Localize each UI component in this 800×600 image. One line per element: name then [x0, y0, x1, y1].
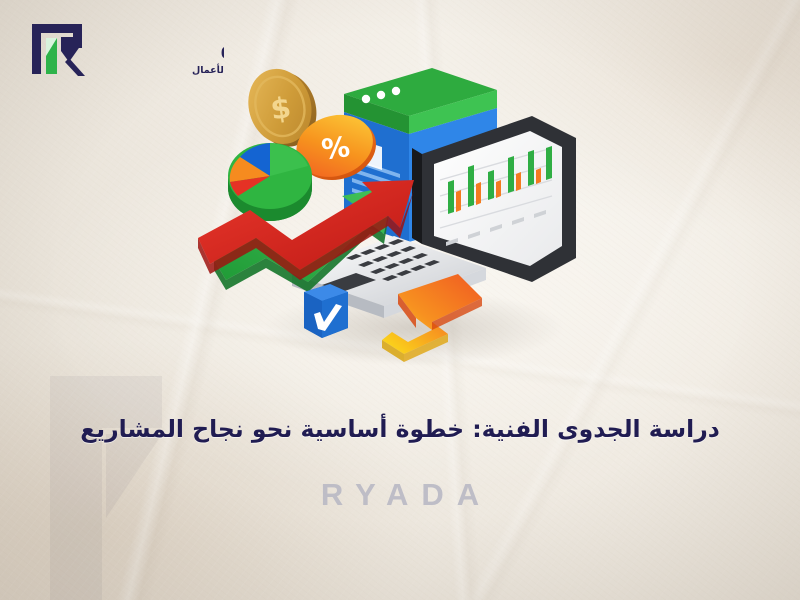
- page-title: دراسة الجدوى الفنية: خطوة أساسية نحو نجا…: [0, 415, 800, 444]
- brand-wordmark-latin: RYADA: [0, 477, 800, 513]
- browser-dot-3: [392, 87, 400, 95]
- brand-logo[interactable]: ريادة لحلول الأعمال: [24, 18, 224, 80]
- browser-dot-2: [377, 91, 385, 99]
- hero-illustration: $ %: [196, 46, 616, 376]
- brand-logo-svg: ريادة لحلول الأعمال: [24, 18, 224, 80]
- percent-symbol: %: [319, 130, 351, 167]
- poster-canvas: ريادة لحلول الأعمال: [0, 0, 800, 600]
- pie-chart-3d-graphic: [228, 143, 312, 221]
- logo-monogram-icon: [32, 24, 85, 76]
- check-badge-icon: [304, 284, 348, 338]
- browser-dot-1: [362, 95, 370, 103]
